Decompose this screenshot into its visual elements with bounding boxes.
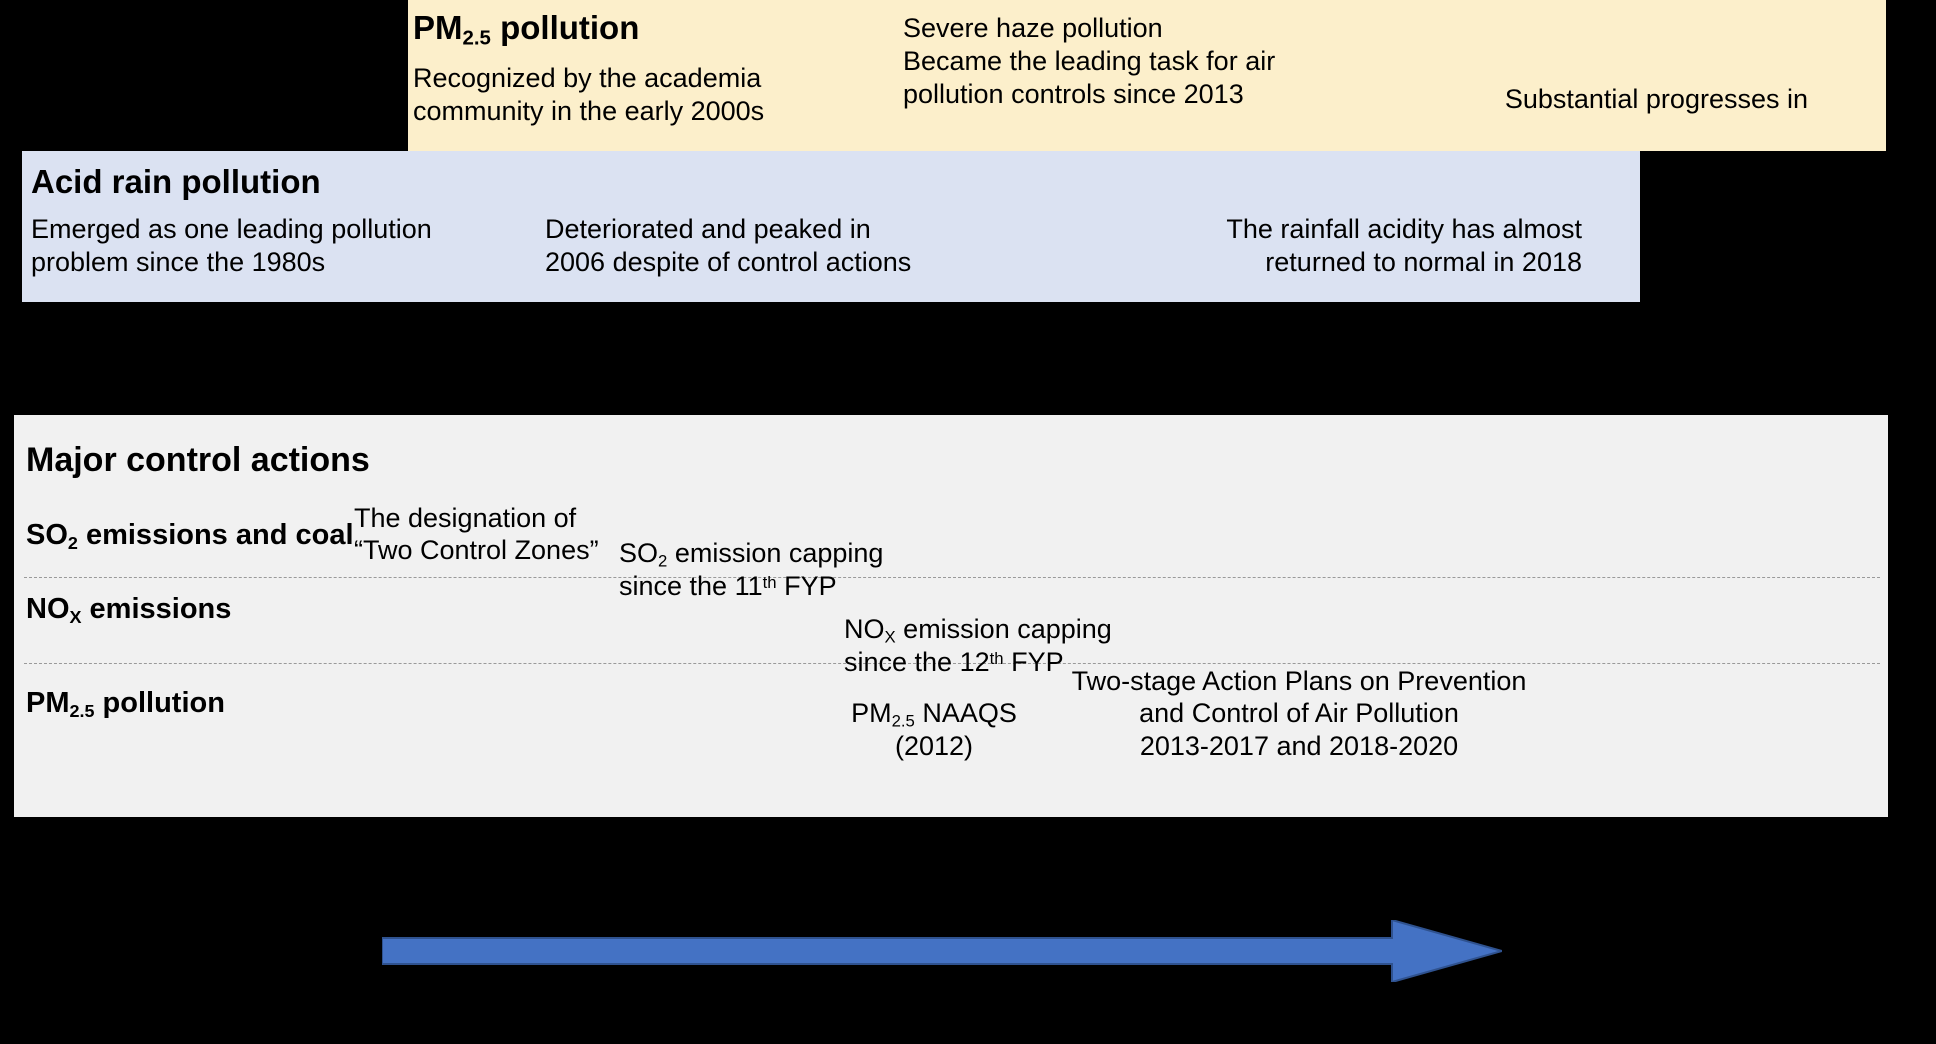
acid-rain-banner-item-2: The rainfall acidity has almost returned… [1182, 213, 1582, 279]
timeline-arrow-icon [382, 920, 1502, 982]
so2-label-prefix: SO [26, 519, 68, 551]
pm25-row-label-suffix: pollution [94, 687, 224, 719]
so2-label-subscript: 2 [68, 533, 78, 553]
pm25-title-prefix: PM [413, 9, 463, 46]
acid-rain-banner-item-0: Emerged as one leading pollution problem… [31, 213, 501, 279]
row-label-nox-emissions: NOX emissions [26, 593, 231, 626]
nox-label-subscript: X [70, 607, 82, 627]
pm25-row-label-subscript: 2.5 [70, 701, 95, 721]
so2-cap-subscript: 2 [658, 552, 667, 571]
action-cell-two-control-zones: The designation of “Two Control Zones” [354, 502, 604, 567]
pm25-title-subscript: 2.5 [463, 27, 491, 50]
pm25-banner-item-2-subscript: 2.5 [1677, 163, 1700, 182]
pm25-naaqs-subscript: 2.5 [892, 712, 915, 731]
pm25-pollution-banner: PM2.5 pollution Recognized by the academ… [408, 0, 1886, 151]
pm25-banner-title: PM2.5 pollution [413, 9, 639, 47]
pm25-banner-item-1: Severe haze pollution Became the leading… [903, 12, 1343, 111]
pm25-banner-item-0: Recognized by the academia community in … [413, 62, 883, 128]
pm25-naaqs-prefix: PM [851, 698, 892, 728]
pm25-row-label-prefix: PM [26, 687, 70, 719]
nox-cap-subscript: X [885, 628, 896, 647]
pm25-banner-item-2-line2-suffix: pollution [1700, 150, 1808, 180]
so2-cap-suffix: FYP [777, 571, 837, 601]
row-label-pm25-pollution: PM2.5 pollution [26, 687, 225, 720]
acid-rain-pollution-banner: Acid rain pollution Emerged as one leadi… [22, 151, 1640, 302]
row-label-so2-emissions: SO2 emissions and coal [26, 519, 354, 552]
nox-cap-prefix: NO [844, 614, 885, 644]
acid-rain-banner-item-1: Deteriorated and peaked in 2006 despite … [545, 213, 975, 279]
so2-cap-superscript: th [763, 573, 777, 592]
so2-label-suffix: emissions and coal [78, 519, 354, 551]
nox-label-suffix: emissions [82, 593, 232, 625]
nox-label-prefix: NO [26, 593, 70, 625]
pm25-naaqs-mid: NAAQS (2012) [895, 698, 1017, 760]
action-cell-two-stage-action-plans: Two-stage Action Plans on Prevention and… [1069, 665, 1529, 762]
slide-canvas: PM2.5 pollution Recognized by the academ… [0, 0, 1936, 1044]
action-cell-nox-emission-capping: NOX emission capping since the 12th FYP [844, 581, 1144, 678]
pm25-banner-item-2-line1: Substantial progresses in [1505, 84, 1808, 114]
timeline-arrow-shape [382, 920, 1502, 982]
major-control-actions-panel: Major control actions SO2 emissions and … [14, 415, 1888, 817]
so2-cap-prefix: SO [619, 538, 658, 568]
acid-rain-banner-title: Acid rain pollution [31, 163, 321, 201]
major-control-actions-title: Major control actions [26, 441, 370, 480]
action-cell-pm25-naaqs: PM2.5 NAAQS (2012) [814, 665, 1054, 762]
pm25-title-suffix: pollution [491, 9, 639, 46]
row-divider [24, 577, 1880, 578]
